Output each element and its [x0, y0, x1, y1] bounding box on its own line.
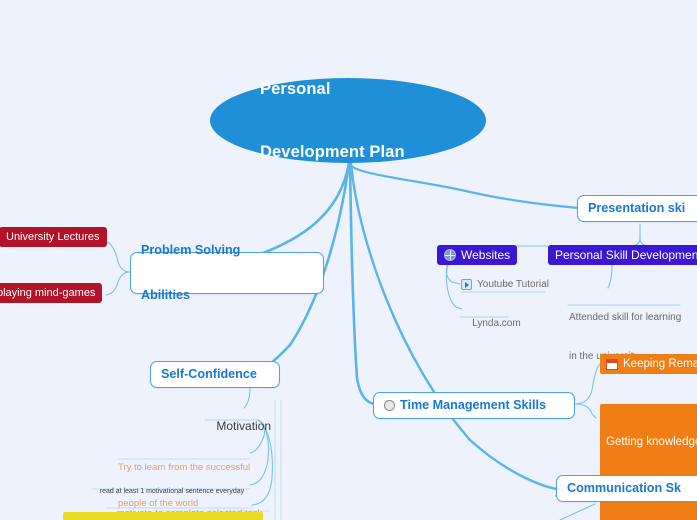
- root-title-line2: Development Plan: [260, 142, 405, 163]
- leaf-youtube-tutorial[interactable]: Youtube Tutorial: [461, 278, 549, 291]
- node-motivation-label: Motivation: [216, 419, 271, 433]
- node-university-lectures-label: University Lectures: [6, 230, 100, 244]
- yellow-highlight-bar: [63, 512, 263, 520]
- branch-problem-solving-line2: Abilities: [141, 288, 240, 303]
- root-title-line1: Personal: [260, 79, 405, 100]
- branch-self-confidence-label: Self-Confidence: [161, 367, 257, 382]
- globe-icon: [444, 249, 456, 261]
- node-getting-knowledge[interactable]: Getting knowledge Lectures and Tutor: [600, 404, 697, 520]
- branch-communication-skills[interactable]: Communication Sk: [556, 475, 697, 502]
- node-keeping-remainder[interactable]: Keeping Remain: [600, 354, 697, 374]
- leaf-lynda-label: Lynda.com: [472, 318, 521, 329]
- leaf-learn-successful-line1: Try to learn from the successful: [118, 462, 250, 474]
- branch-self-confidence[interactable]: Self-Confidence: [150, 361, 280, 388]
- branch-communication-skills-label: Communication Sk: [567, 481, 681, 496]
- clock-icon: [384, 400, 395, 411]
- node-personal-skill-development-label: Personal Skill Development: [555, 248, 697, 262]
- leaf-attended-skill-line1: Attended skill for learning: [569, 311, 681, 324]
- node-keeping-remainder-label: Keeping Remain: [623, 357, 697, 371]
- node-playing-mind-games-label: playing mind-games: [0, 286, 95, 300]
- node-university-lectures[interactable]: University Lectures: [0, 227, 107, 247]
- branch-problem-solving-abilities[interactable]: Problem Solving Abilities: [130, 252, 324, 294]
- mindmap-canvas: Personal Development Plan Presentation s…: [0, 0, 697, 520]
- node-websites[interactable]: Websites: [437, 245, 517, 265]
- node-getting-knowledge-line1: Getting knowledge: [606, 435, 697, 449]
- branch-presentation-skills-label: Presentation ski: [588, 201, 685, 216]
- branch-presentation-skills[interactable]: Presentation ski: [577, 195, 697, 222]
- video-icon: [461, 279, 472, 290]
- branch-time-management-skills[interactable]: Time Management Skills: [373, 392, 575, 419]
- leaf-youtube-tutorial-label: Youtube Tutorial: [477, 278, 549, 291]
- calendar-icon: [606, 359, 618, 370]
- leaf-lynda[interactable]: Lynda.com: [461, 304, 521, 343]
- branch-time-management-skills-label: Time Management Skills: [400, 398, 546, 413]
- node-playing-mind-games[interactable]: playing mind-games: [0, 283, 102, 303]
- leaf-read-sentence-label: read at least 1 motivational sentence ev…: [100, 488, 244, 495]
- branch-problem-solving-line1: Problem Solving: [141, 243, 240, 258]
- node-personal-skill-development[interactable]: Personal Skill Development: [548, 245, 697, 265]
- root-node[interactable]: Personal Development Plan: [210, 78, 486, 163]
- node-websites-label: Websites: [461, 248, 510, 262]
